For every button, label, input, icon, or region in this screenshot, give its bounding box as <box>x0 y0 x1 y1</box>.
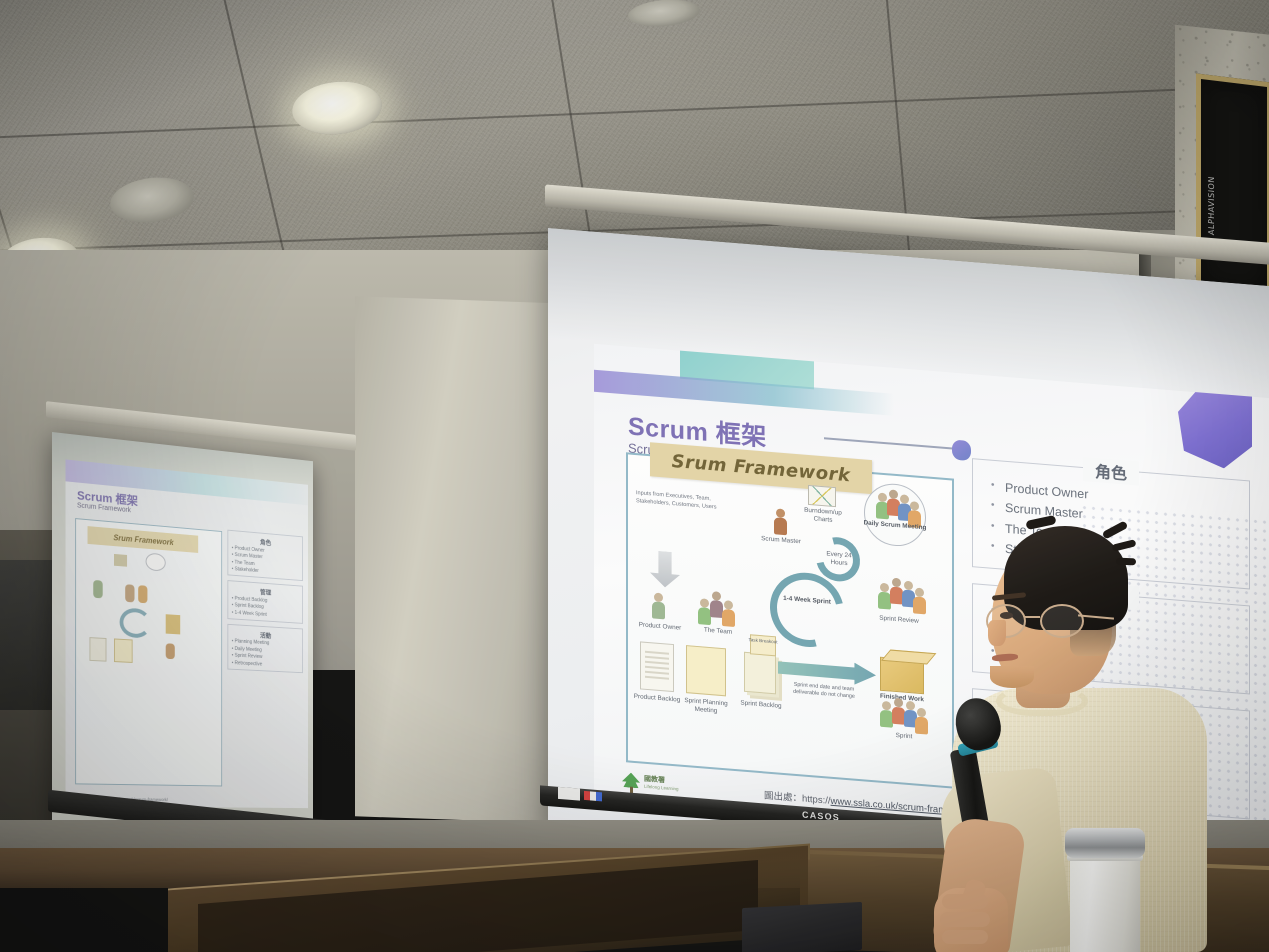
left-side-board <box>0 560 58 710</box>
wall-panel-label: ALPHAVISION <box>1207 176 1216 236</box>
water-bottle-cap[interactable] <box>1065 828 1145 858</box>
lectern-laptop <box>742 902 862 952</box>
panel-heading-roles: 角色 <box>1083 457 1139 486</box>
product-owner-figure <box>652 592 665 619</box>
left-panel-activities: 活動 Planning Meeting Daily Meeting Sprint… <box>227 623 303 672</box>
glasses-lens <box>1040 604 1084 638</box>
finished-work-box <box>880 657 924 695</box>
wall-column-center <box>355 296 570 824</box>
hair-spike <box>1116 558 1136 566</box>
sprint-planning-note <box>686 645 726 696</box>
label-product-owner: Product Owner <box>634 621 686 634</box>
finger <box>940 912 990 927</box>
label-sprint-backlog: Sprint Backlog <box>736 699 786 711</box>
presenter-hand <box>934 888 1008 952</box>
label-sprint-planning: Sprint Planning Meeting <box>678 696 734 717</box>
glasses-bridge <box>1024 616 1040 618</box>
inputs-arrow <box>650 550 680 588</box>
label-product-backlog: Product Backlog <box>632 693 682 705</box>
screen-brand-logo-icon <box>584 791 602 801</box>
sprint-team-figure <box>915 708 928 735</box>
hair-spike <box>1102 520 1129 539</box>
water-bottle[interactable] <box>1070 850 1140 952</box>
lecture-hall-photo: ALPHAVISION Scrum 框架 Scrum Framework Sru… <box>0 0 1269 952</box>
title-hexagon-dot <box>952 440 971 462</box>
label-sprint-review: Sprint Review <box>868 614 930 627</box>
hair-spike <box>1112 539 1137 552</box>
left-slide: Scrum 框架 Scrum Framework Srum Framework … <box>66 459 308 808</box>
scrum-framework-diagram: Srum Framework Inputs from Executives, T… <box>626 452 954 788</box>
screen-barcode-sticker <box>558 787 580 801</box>
left-slide-diagram: Srum Framework <box>75 518 222 786</box>
burndown-charts-icon <box>808 485 836 507</box>
label-burndown-charts: Burndown/up Charts <box>796 506 850 527</box>
left-panel-roles: 角色 Product Owner Scrum Master The Team S… <box>227 530 303 581</box>
label-every-24-hours: Every 24 Hours <box>820 550 858 570</box>
presenter-nose <box>988 620 1006 646</box>
left-diagram-banner: Srum Framework <box>88 526 199 553</box>
left-panel-management: 管理 Product Backlog Sprint Backlog 1-4 We… <box>227 580 303 623</box>
diagram-inputs-note: Inputs from Executives, Team, Stakeholde… <box>636 489 732 513</box>
logo-text-en: Lifelong Learning <box>644 784 679 792</box>
finger <box>942 930 988 944</box>
product-backlog-doc <box>640 641 674 692</box>
left-slide-panels: 角色 Product Owner Scrum Master The Team S… <box>227 530 303 788</box>
label-the-team: The Team <box>690 625 746 638</box>
wall-mounted-display-panel: ALPHAVISION <box>1196 73 1269 297</box>
team-figure <box>722 600 735 627</box>
sprint-review-figure <box>913 587 926 614</box>
projection-screen-left: Scrum 框架 Scrum Framework Srum Framework … <box>52 432 313 825</box>
label-no-change: Sprint end date and team deliverable do … <box>786 681 862 701</box>
scrum-master-figure <box>774 508 787 535</box>
presenter-chin <box>990 666 1034 688</box>
label-scrum-master: Scrum Master <box>756 535 806 547</box>
sprint-backlog-stack <box>744 652 776 695</box>
presenter <box>930 520 1230 952</box>
